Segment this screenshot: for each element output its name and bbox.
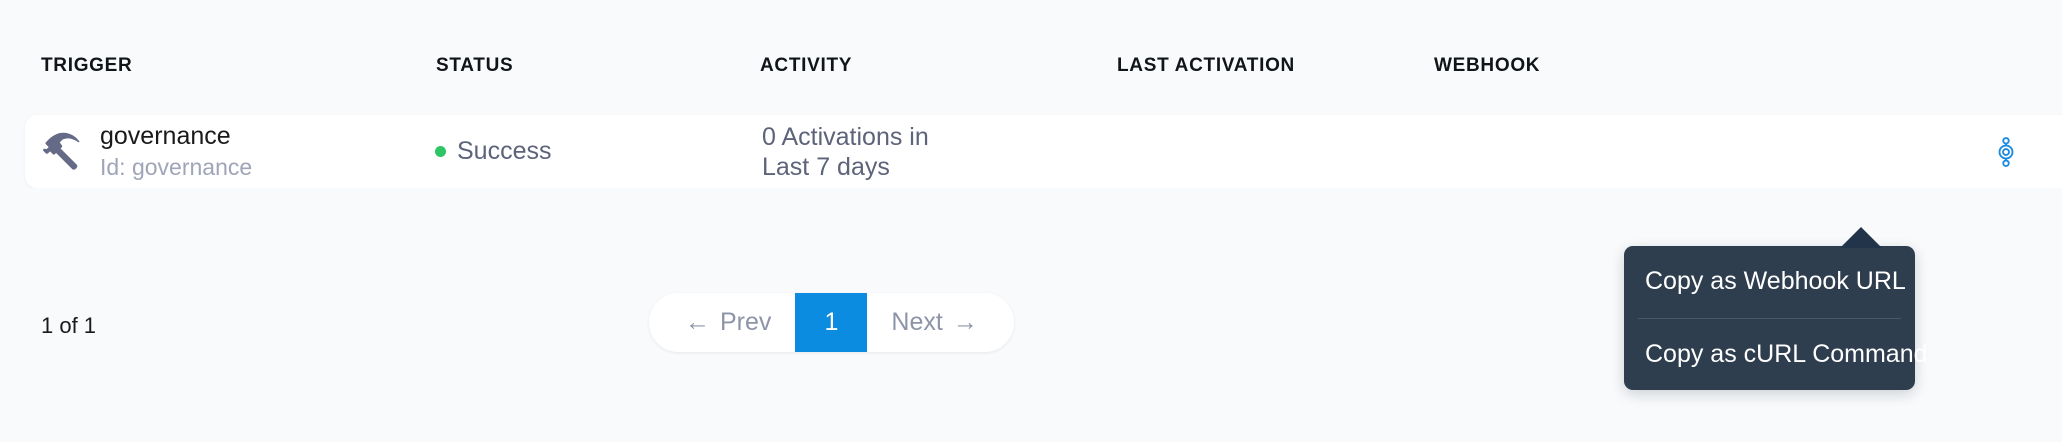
column-header-status: STATUS — [436, 55, 513, 77]
trigger-text-group: governance Id: governance — [100, 122, 252, 181]
trigger-id: Id: governance — [100, 154, 252, 181]
table-header: TRIGGER STATUS ACTIVITY LAST ACTIVATION … — [0, 0, 2062, 115]
trigger-name: governance — [100, 122, 252, 152]
menu-item-copy-curl-command[interactable]: Copy as cURL Command — [1624, 319, 1915, 391]
column-header-last-activation: LAST ACTIVATION — [1117, 55, 1295, 77]
pagination: ← Prev 1 Next → — [649, 293, 1014, 352]
pagination-page-1[interactable]: 1 — [795, 293, 867, 352]
cell-trigger: governance Id: governance — [39, 115, 252, 188]
pagination-next-label: Next — [891, 308, 942, 337]
status-label: Success — [457, 137, 551, 166]
pagination-prev-button[interactable]: ← Prev — [649, 293, 795, 352]
arrow-left-icon: ← — [685, 310, 710, 335]
activity-period: Last 7 days — [762, 152, 890, 182]
pagination-next-button[interactable]: Next → — [867, 293, 1013, 352]
cell-activity: 0 Activations in Last 7 days — [762, 115, 929, 188]
column-header-activity: ACTIVITY — [760, 55, 852, 77]
cell-webhook[interactable] — [1445, 115, 2045, 188]
arrow-right-icon: → — [953, 310, 978, 335]
cell-last-activation — [1115, 115, 1415, 188]
dropdown-pointer-arrow — [1840, 227, 1882, 248]
webhook-icon[interactable] — [1992, 137, 2020, 167]
hammer-icon — [39, 129, 85, 175]
result-count-label: 1 of 1 — [41, 313, 96, 339]
pagination-prev-label: Prev — [720, 308, 771, 337]
table-row[interactable]: governance Id: governance Success 0 Acti… — [25, 115, 2062, 188]
column-header-webhook: WEBHOOK — [1434, 55, 1540, 77]
cell-status: Success — [435, 115, 551, 188]
column-header-trigger: TRIGGER — [41, 55, 132, 77]
status-dot-icon — [435, 146, 446, 157]
menu-item-copy-webhook-url[interactable]: Copy as Webhook URL — [1624, 246, 1915, 318]
webhook-dropdown-menu: Copy as Webhook URL Copy as cURL Command — [1624, 246, 1915, 390]
activity-count: 0 Activations in — [762, 122, 929, 152]
